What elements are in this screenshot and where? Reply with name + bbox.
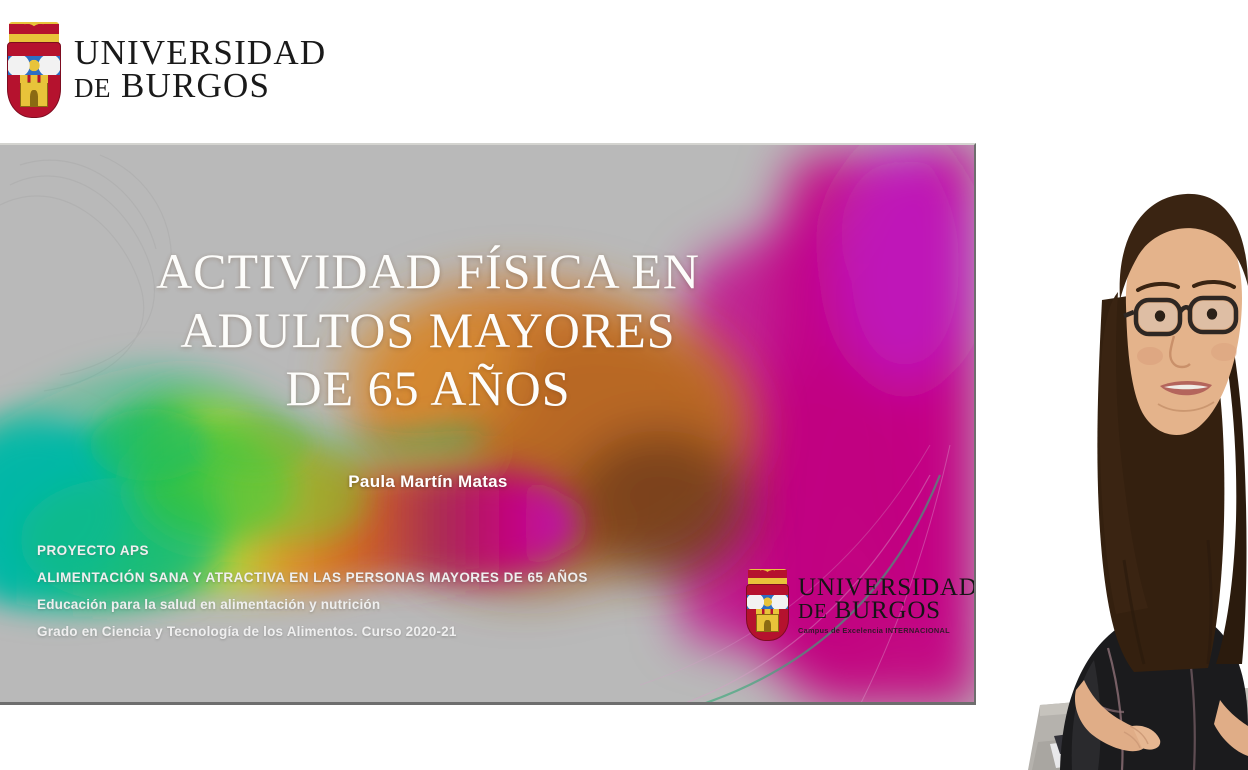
slide-university-logo: UNIVERSIDAD DE BURGOS Campus de Excelenc…: [745, 563, 970, 647]
footer-line-project: PROYECTO APS: [37, 543, 737, 558]
slide-logo-tagline: Campus de Excelencia INTERNACIONAL: [798, 628, 976, 635]
slide-logo-de-burgos: DE BURGOS: [798, 599, 976, 623]
slide-logo-burgos: BURGOS: [835, 597, 941, 624]
slide-footer-block: PROYECTO APS ALIMENTACIÓN SANA Y ATRACTI…: [37, 543, 737, 651]
page-header: UNIVERSIDAD DE BURGOS: [0, 0, 1010, 140]
presenter-image: [998, 0, 1248, 770]
title-line-2: ADULTOS MAYORES: [48, 301, 808, 360]
title-line-1: ACTIVIDAD FÍSICA EN: [48, 242, 808, 301]
crown-shape: [9, 22, 58, 44]
shield-field: [746, 584, 789, 641]
slide-logo-wordmark: UNIVERSIDAD DE BURGOS Campus de Excelenc…: [798, 576, 976, 635]
slide-title: ACTIVIDAD FÍSICA EN ADULTOS MAYORES DE 6…: [48, 242, 808, 418]
shield-field: [7, 42, 61, 118]
presenter-video-feed[interactable]: [998, 0, 1248, 770]
wordmark-de: DE: [74, 73, 111, 103]
footer-line-degree-year: Grado en Ciencia y Tecnología de los Ali…: [37, 624, 737, 639]
title-line-3: DE 65 AÑOS: [48, 359, 808, 418]
castle-charge: [20, 82, 48, 107]
crown-shape: [748, 569, 788, 586]
slide-author: Paula Martín Matas: [48, 472, 808, 492]
presentation-slide[interactable]: ACTIVIDAD FÍSICA EN ADULTOS MAYORES DE 6…: [0, 143, 976, 705]
burgos-coat-of-arms-icon: [6, 22, 62, 118]
footer-line-course-subject: Educación para la salud en alimentación …: [37, 597, 737, 612]
wordmark-burgos: BURGOS: [121, 66, 270, 105]
slide-logo-de: DE: [798, 599, 828, 623]
wordmark-line-de-burgos: DE BURGOS: [74, 70, 326, 103]
burgos-coat-of-arms-icon: [745, 569, 790, 641]
shield-band: [8, 56, 60, 74]
university-wordmark: UNIVERSIDAD DE BURGOS: [74, 37, 326, 102]
shield-band: [747, 595, 788, 609]
castle-charge: [756, 614, 778, 633]
footer-line-project-title: ALIMENTACIÓN SANA Y ATRACTIVA EN LAS PER…: [37, 570, 737, 585]
slide-logo-universidad: UNIVERSIDAD: [798, 576, 976, 600]
slide-content: ACTIVIDAD FÍSICA EN ADULTOS MAYORES DE 6…: [0, 145, 974, 702]
